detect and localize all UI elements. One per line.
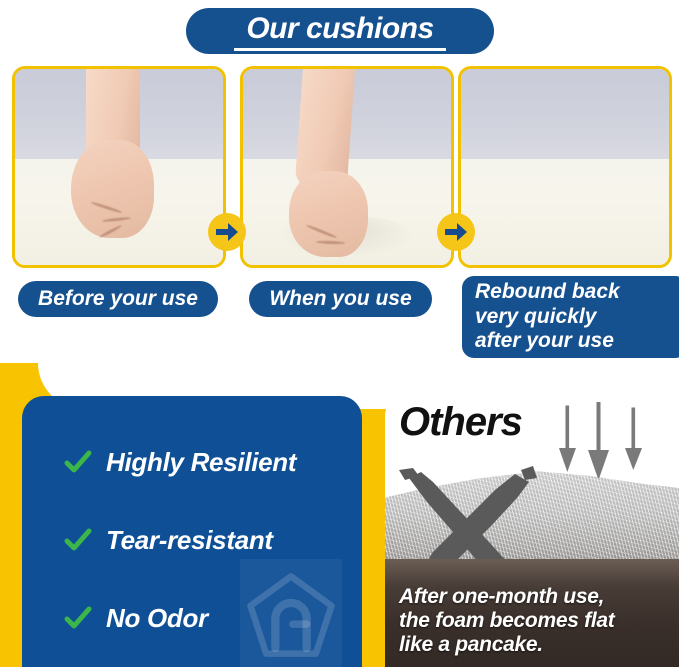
check-icon [64,448,92,476]
others-comparison-panel: Others [385,396,679,667]
demo-photo-before [12,66,226,268]
caption-before-your-use: Before your use [18,281,218,317]
title-underline [234,48,446,51]
product-infographic: Our cushions [0,0,679,667]
page-title: Our cushions [246,14,433,44]
page-title-banner: Our cushions [186,8,494,54]
feature-item-highly-resilient: Highly Resilient [64,436,296,488]
photo-foam-surface [461,159,669,265]
photo-fist [289,171,368,257]
features-panel: Highly Resilient Tear-resistant No Odor [22,396,362,667]
others-caption-area: After one-month use, the foam becomes fl… [385,559,679,667]
caption-text: When you use [269,287,411,311]
check-icon [64,604,92,632]
caption-line: very quickly [475,305,596,329]
demo-photo-after [458,66,672,268]
caption-when-you-use: When you use [249,281,432,317]
others-title: Others [399,402,522,442]
pentagon-home-logo-icon [240,559,342,667]
demo-photo-row [0,66,679,268]
arrow-right-icon [208,213,246,251]
photo-background-wall [461,69,669,159]
feature-label: No Odor [106,603,208,634]
photo-fist [71,140,154,238]
arrow-down-icon [549,402,669,478]
caption-line: after your use [475,329,614,353]
check-icon [64,526,92,554]
others-caption-line: the foam becomes flat [399,609,614,633]
others-caption-line: After one-month use, [399,585,614,609]
caption-text: Before your use [38,287,198,311]
demo-photo-during [240,66,454,268]
feature-label: Highly Resilient [106,447,296,478]
feature-label: Tear-resistant [106,525,273,556]
arrow-right-icon [437,213,475,251]
caption-line: Rebound back [475,280,620,304]
caption-rebound-back: Rebound back very quickly after your use [462,276,679,358]
others-caption-line: like a pancake. [399,633,614,657]
others-caption: After one-month use, the foam becomes fl… [399,585,614,657]
